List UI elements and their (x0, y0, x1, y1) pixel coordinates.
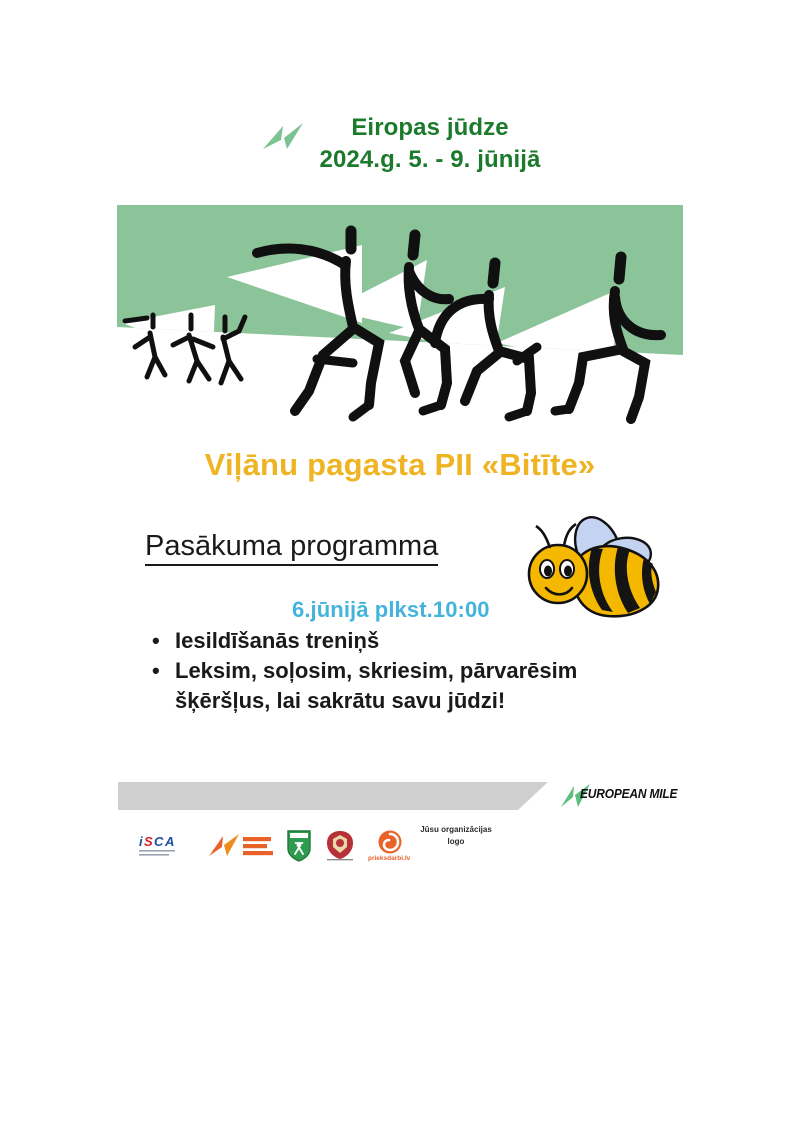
organization-logo-placeholder: Jūsu organizācijas logo (408, 824, 504, 848)
list-item: • Iesildīšanās treniņš (144, 626, 664, 655)
list-item-text: Iesildīšanās treniņš (175, 628, 379, 653)
organization-title: Viļānu pagasta PII «Bitīte» (0, 447, 800, 483)
list-item-text: Leksim, soļosim, skriesim, pārvarēsim šķ… (175, 658, 577, 712)
svg-text:A: A (164, 834, 174, 849)
poster-header: Eiropas jūdze 2024.g. 5. - 9. jūnijā (0, 112, 800, 175)
green-shield-logo (282, 822, 316, 870)
emblem-logo (320, 822, 360, 870)
svg-text:C: C (154, 834, 164, 849)
svg-text:prieksdarbi.lv: prieksdarbi.lv (368, 855, 411, 862)
bee-illustration (514, 512, 669, 630)
header-line-1: Eiropas jūdze (320, 112, 541, 144)
european-mile-wordmark: EUROPEAN MILE (580, 786, 677, 801)
program-item-list: • Iesildīšanās treniņš • Leksim, soļosim… (144, 626, 664, 716)
bullet-icon: • (152, 626, 160, 655)
list-item: • Leksim, soļosim, skriesim, pārvarēsim … (144, 656, 664, 715)
placeholder-line-1: Jūsu organizācijas (408, 824, 504, 836)
running-figures-banner (117, 205, 683, 430)
european-mile-arrow-icon (260, 118, 306, 158)
svg-text:i: i (139, 834, 143, 849)
svg-text:S: S (144, 834, 153, 849)
header-text-block: Eiropas jūdze 2024.g. 5. - 9. jūnijā (320, 112, 541, 175)
header-line-2: 2024.g. 5. - 9. jūnijā (320, 144, 541, 176)
program-heading: Pasākuma programma (145, 530, 438, 566)
bullet-icon: • (152, 656, 160, 685)
event-time: 6.jūnijā plkst.10:00 (292, 597, 490, 623)
isca-logo: i S C A (134, 822, 196, 870)
placeholder-line-2: logo (408, 836, 504, 848)
now-we-move-logo (206, 822, 278, 870)
